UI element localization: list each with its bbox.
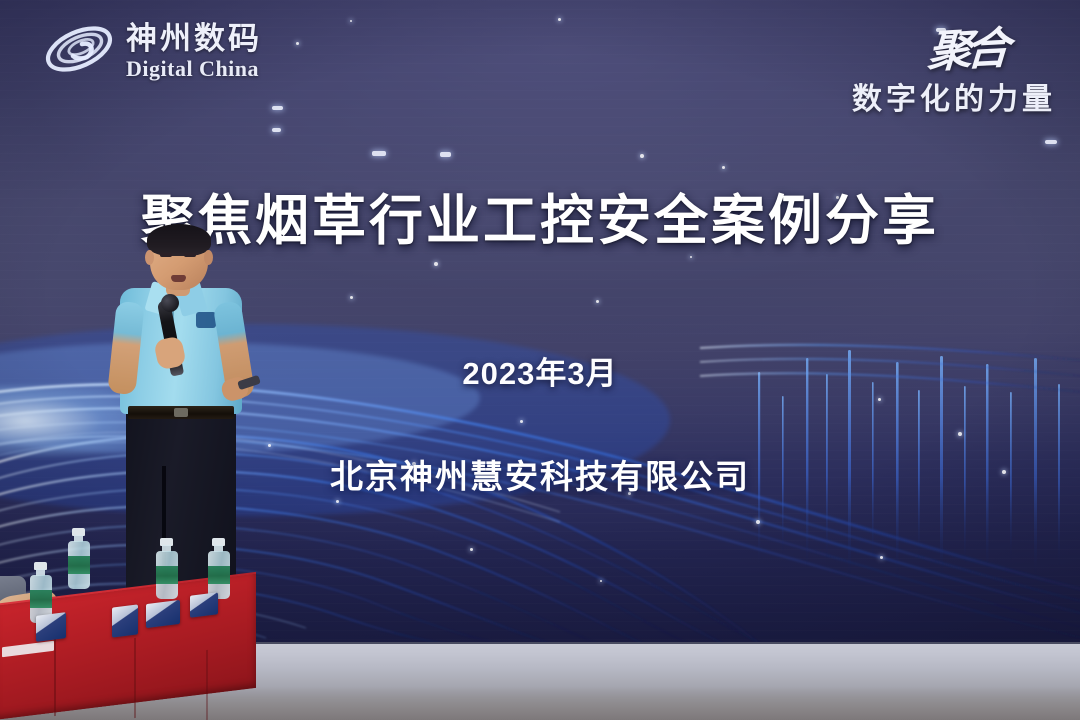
speaker-hair — [147, 224, 211, 256]
speaker-ear-left — [145, 250, 154, 265]
brand-name-en: Digital China — [126, 58, 262, 80]
speaker-shirt-logo-icon — [196, 312, 216, 328]
speaker-eye-right — [184, 253, 196, 257]
digital-china-swirl-logo-icon — [42, 18, 116, 85]
name-card — [190, 592, 218, 617]
event-brand-mark: 聚合 数字化的力量 — [852, 14, 1056, 118]
screenshot-root: 神州数码 Digital China 聚合 数字化的力量 聚焦烟草行业工控安全案… — [0, 0, 1080, 720]
table-cloth-fold — [134, 638, 136, 718]
name-card — [146, 600, 180, 628]
front-table — [0, 588, 262, 720]
speaker-belt-buckle — [174, 408, 188, 417]
speaker-ear-right — [204, 250, 213, 265]
name-card — [112, 604, 138, 637]
event-tagline: 数字化的力量 — [852, 74, 1056, 118]
event-calligraphy: 聚合 — [926, 12, 1006, 80]
speaker-figure — [96, 228, 272, 620]
brand-name-cn: 神州数码 — [126, 23, 262, 54]
table-cloth-fold — [206, 650, 208, 720]
digital-china-logo: 神州数码 Digital China — [42, 18, 262, 85]
speaker-eye-left — [160, 253, 172, 257]
name-card — [36, 612, 66, 642]
speaker-mouth — [171, 275, 186, 282]
